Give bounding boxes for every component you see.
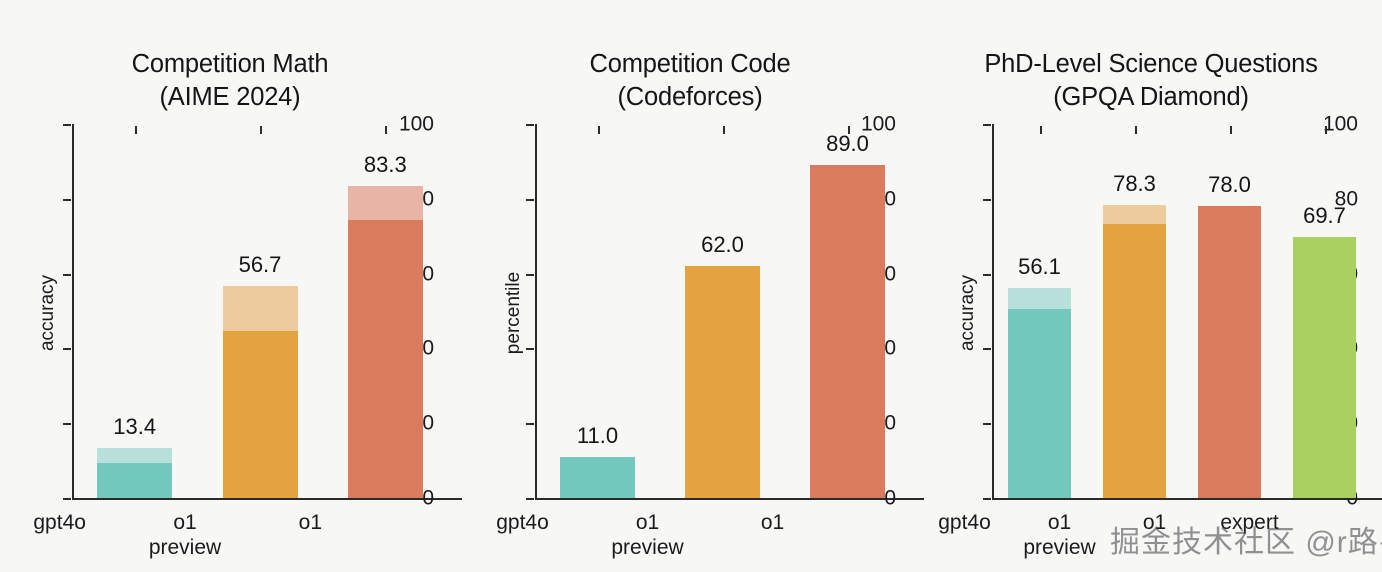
y-axis-line (72, 124, 74, 500)
y-tick-mark (526, 274, 534, 276)
bar-value-label: 78.3 (1113, 173, 1156, 195)
bar-value-label: 56.7 (239, 254, 282, 276)
bar-gpt4o: 56.1 (1008, 288, 1071, 498)
bar-segment-lower (685, 266, 760, 498)
bar-segment-lower (223, 331, 298, 498)
bar-segment-lower (1198, 206, 1261, 498)
bar-gpt4o: 11.0 (560, 457, 635, 498)
y-tick-mark (983, 199, 991, 201)
chart-panel-3: PhD-Level Science Questions (GPQA Diamon… (920, 0, 1382, 572)
x-tick-mark (260, 126, 262, 134)
y-tick-mark (983, 348, 991, 350)
y-tick-mark (63, 498, 71, 500)
bar-segment-lower (1008, 309, 1071, 498)
chart-title: PhD-Level Science Questions (GPQA Diamon… (920, 48, 1382, 114)
bar-segment-upper (1103, 205, 1166, 224)
bar-o1: 89.0 (810, 165, 885, 498)
y-tick-label: 0 (422, 488, 434, 509)
bar-value-label: 62.0 (701, 234, 744, 256)
y-tick-mark (526, 124, 534, 126)
y-axis-line (535, 124, 537, 500)
x-tick-mark (1040, 126, 1042, 134)
bar-value-label: 13.4 (113, 416, 156, 438)
y-tick-mark (526, 348, 534, 350)
y-tick-mark (983, 124, 991, 126)
bar-segment-lower (810, 165, 885, 498)
y-tick-mark (983, 274, 991, 276)
chart-panel-1: Competition Math (AIME 2024)020406080100… (0, 0, 460, 572)
bar-segment-lower (1103, 224, 1166, 498)
x-tick-mark (1230, 126, 1232, 134)
y-tick-mark (63, 274, 71, 276)
x-tick-mark (848, 126, 850, 134)
bar-gpt4o: 13.4 (97, 448, 172, 498)
bar-segment-upper (1008, 288, 1071, 309)
bar-value-label: 83.3 (364, 154, 407, 176)
y-axis-label: percentile (503, 272, 525, 354)
y-tick-mark (63, 348, 71, 350)
y-tick-mark (983, 423, 991, 425)
bar-expert: 69.7 (1293, 237, 1356, 498)
y-tick-mark (63, 124, 71, 126)
bar-segment-upper (348, 186, 423, 219)
x-tick-mark (723, 126, 725, 134)
bar-segment-upper (223, 286, 298, 331)
x-axis-line (72, 498, 462, 500)
bar-o1: 78.0 (1198, 206, 1261, 498)
x-tick-mark (135, 126, 137, 134)
bar-value-label: 78.0 (1208, 174, 1251, 196)
bar-o1: 83.3 (348, 186, 423, 498)
bar-o1-preview: 56.7 (223, 286, 298, 498)
bar-segment-lower (560, 457, 635, 498)
chart-title: Competition Code (Codeforces) (460, 48, 920, 114)
plot-area: 020406080100accuracy13.4gpt4o56.7o1 prev… (72, 124, 448, 500)
y-tick-label: 100 (399, 114, 434, 135)
bar-value-label: 11.0 (577, 425, 618, 447)
bar-segment-upper (97, 448, 172, 463)
bar-segment-lower (97, 463, 172, 498)
x-tick-mark (598, 126, 600, 134)
y-axis-label: accuracy (37, 275, 59, 351)
y-tick-label: 100 (1323, 114, 1358, 135)
x-tick-label: expert (1175, 510, 1325, 535)
x-axis-line (992, 498, 1382, 500)
y-axis-line (992, 124, 994, 500)
bar-value-label: 69.7 (1303, 205, 1346, 227)
x-axis-line (535, 498, 924, 500)
plot-area: 020406080100accuracy56.1gpt4o78.3o1 prev… (992, 124, 1372, 500)
x-tick-label: o1 (698, 510, 848, 535)
y-tick-mark (983, 498, 991, 500)
chart-title: Competition Math (AIME 2024) (0, 48, 460, 114)
x-tick-mark (1135, 126, 1137, 134)
y-tick-mark (526, 498, 534, 500)
bar-segment-lower (1293, 237, 1356, 498)
y-tick-label: 0 (884, 488, 896, 509)
y-tick-mark (63, 423, 71, 425)
x-tick-label: o1 (235, 510, 385, 535)
figure-canvas: Competition Math (AIME 2024)020406080100… (0, 0, 1382, 572)
bar-segment-lower (348, 220, 423, 498)
y-tick-mark (526, 423, 534, 425)
plot-area: 020406080100percentile11.0gpt4o62.0o1 pr… (535, 124, 910, 500)
y-tick-mark (526, 199, 534, 201)
bar-value-label: 56.1 (1018, 256, 1061, 278)
y-tick-mark (63, 199, 71, 201)
chart-panel-2: Competition Code (Codeforces)02040608010… (460, 0, 920, 572)
x-tick-mark (1325, 126, 1327, 134)
bar-o1-preview: 78.3 (1103, 205, 1166, 498)
y-axis-label: accuracy (957, 275, 979, 351)
bar-value-label: 89.0 (826, 133, 869, 155)
x-tick-mark (385, 126, 387, 134)
bar-o1-preview: 62.0 (685, 266, 760, 498)
